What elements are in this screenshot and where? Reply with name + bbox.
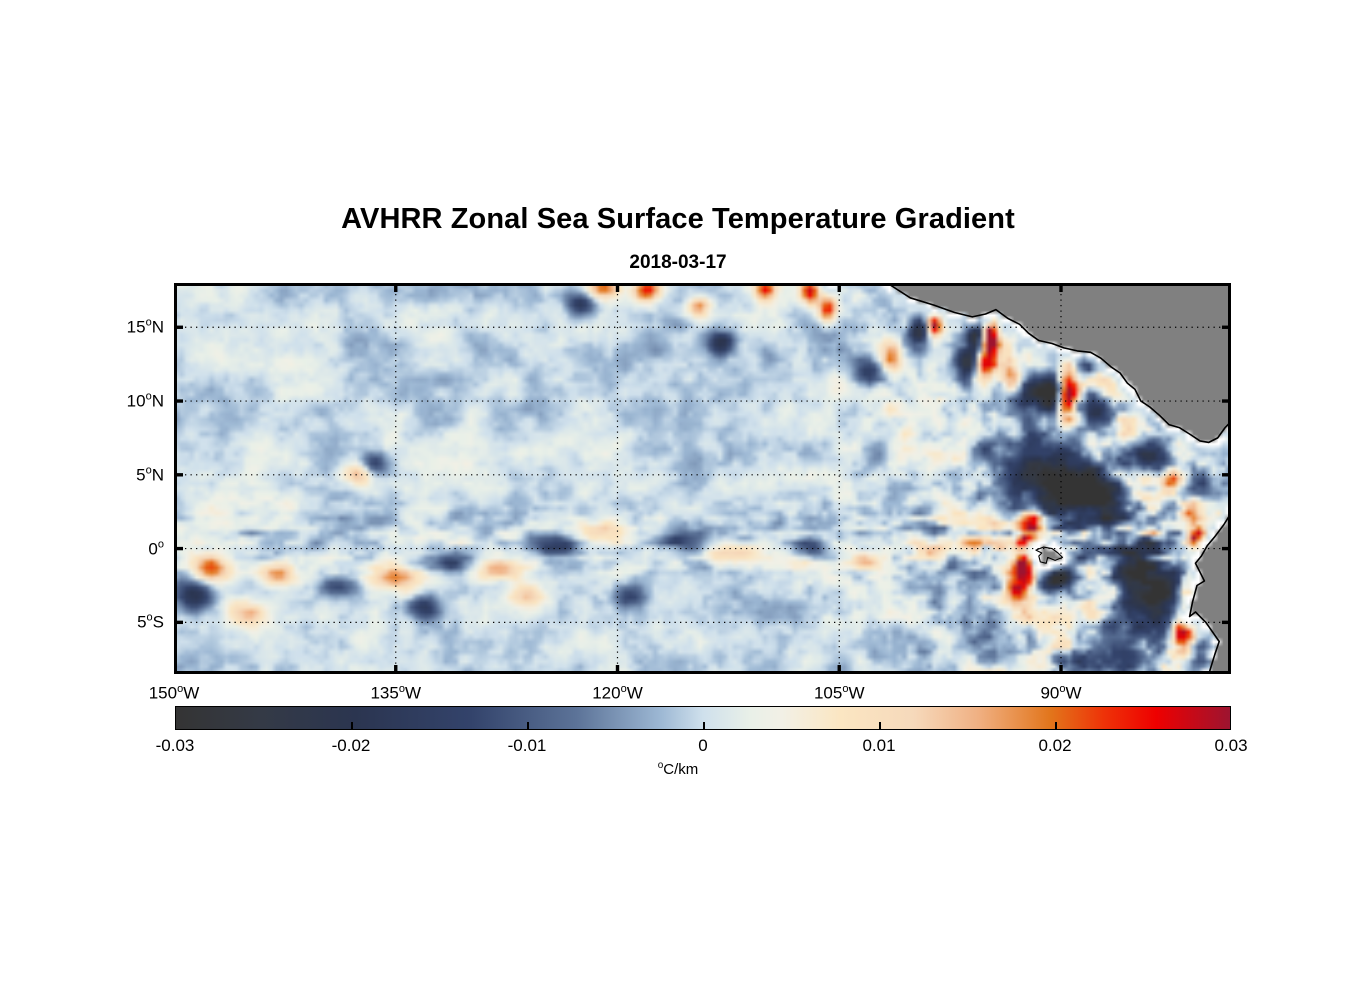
- colorbar-unit-label: oC/km: [0, 760, 1356, 778]
- y-tick-4: 5oS: [60, 612, 164, 633]
- x-tick-1: 135oW: [370, 683, 421, 704]
- colorbar-tick-0: -0.03: [156, 736, 195, 756]
- colorbar-tick-2: -0.01: [508, 736, 547, 756]
- x-tick-3: 105oW: [814, 683, 865, 704]
- x-tick-4: 90oW: [1040, 683, 1081, 704]
- figure-subtitle: 2018-03-17: [0, 252, 1356, 274]
- y-tick-1: 10oN: [60, 391, 164, 412]
- colorbar-tick-4: 0.01: [862, 736, 895, 756]
- colorbar-tick-1: -0.02: [332, 736, 371, 756]
- colorbar-tick-mark-1: [351, 722, 353, 730]
- colorbar-tick-mark-5: [1055, 722, 1057, 730]
- axes-frame: [174, 283, 1231, 674]
- figure-title: AVHRR Zonal Sea Surface Temperature Grad…: [0, 203, 1356, 236]
- y-tick-3: 0o: [60, 538, 164, 559]
- colorbar-tick-5: 0.02: [1038, 736, 1071, 756]
- y-tick-0: 15oN: [60, 317, 164, 338]
- x-tick-2: 120oW: [592, 683, 643, 704]
- colorbar-tick-3: 0: [698, 736, 707, 756]
- colorbar-tick-mark-3: [703, 722, 705, 730]
- x-tick-0: 150oW: [149, 683, 200, 704]
- colorbar: [175, 706, 1231, 730]
- colorbar-tick-mark-4: [879, 722, 881, 730]
- colorbar-tick-mark-2: [527, 722, 529, 730]
- map-plot-area: [174, 283, 1231, 674]
- y-tick-2: 5oN: [60, 464, 164, 485]
- colorbar-tick-6: 0.03: [1214, 736, 1247, 756]
- figure-canvas: AVHRR Zonal Sea Surface Temperature Grad…: [0, 0, 1356, 1000]
